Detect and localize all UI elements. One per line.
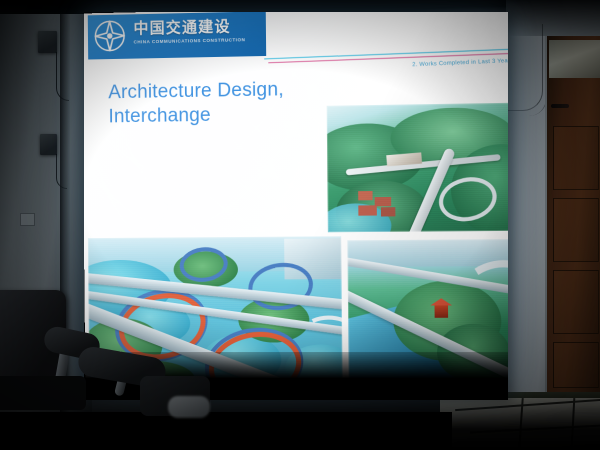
- door-glass-transom: [549, 40, 600, 78]
- presentation-slide: 中国交通建设 CHINA COMMUNICATIONS CONSTRUCTION…: [84, 12, 508, 394]
- photo-top-right: [327, 103, 508, 232]
- wall-socket: [20, 213, 35, 226]
- speaker-cable-lower: [56, 154, 67, 189]
- speaker-cable-upper: [56, 52, 69, 101]
- foreground-dark-band: [0, 412, 452, 450]
- cccc-compass-logo-icon: [94, 20, 126, 53]
- door-panel: [553, 126, 599, 190]
- door-panel: [553, 270, 599, 334]
- wall-speaker-lower: [40, 134, 57, 155]
- brand-name-cn: 中国交通建设: [133, 18, 230, 37]
- conference-room-photo: 中国交通建设 CHINA COMMUNICATIONS CONSTRUCTION…: [0, 0, 600, 450]
- slide-title-line2: Interchange: [108, 101, 340, 129]
- door-panel: [553, 198, 599, 262]
- ceiling-cable-secondary: [520, 46, 547, 116]
- photo-border: [327, 103, 508, 232]
- projection-screen: 中国交通建设 CHINA COMMUNICATIONS CONSTRUCTION…: [84, 12, 508, 394]
- foreground-highlight: [168, 396, 210, 418]
- wall-speaker-upper: [38, 31, 57, 53]
- door-panel: [553, 342, 599, 388]
- slide-title-line1: Architecture Design,: [108, 79, 284, 103]
- section-label: 2. Works Completed in Last 3 Years: [381, 58, 508, 70]
- slide-title: Architecture Design, Interchange: [108, 77, 340, 129]
- door-handle[interactable]: [551, 104, 569, 108]
- chair-seat: [0, 376, 86, 410]
- slide-header: 中国交通建设 CHINA COMMUNICATIONS CONSTRUCTION…: [84, 12, 508, 62]
